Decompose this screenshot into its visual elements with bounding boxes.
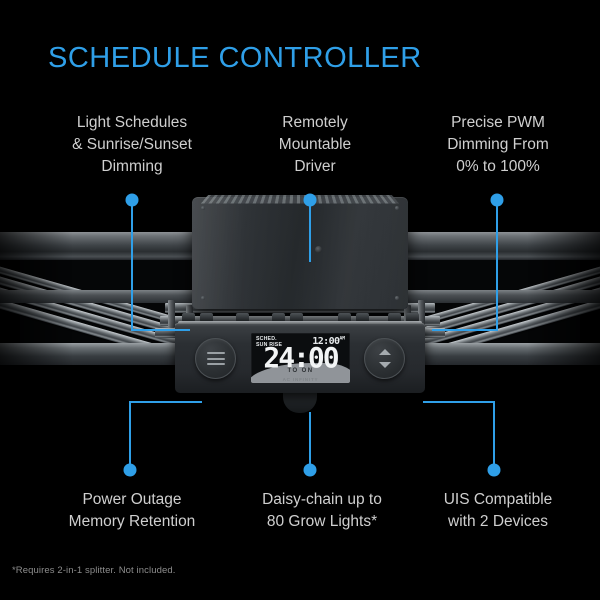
driver-sheen — [192, 197, 408, 309]
callout-light-schedules: Light Schedules & Sunrise/Sunset Dimming — [32, 112, 232, 178]
up-down-button[interactable] — [364, 338, 405, 379]
callout-memory-retention: Power Outage Memory Retention — [32, 489, 232, 533]
hamburger-icon-line-2 — [207, 358, 225, 360]
callout-remote-driver: Remotely Mountable Driver — [245, 112, 385, 178]
connector-dot-bottom-left — [124, 464, 137, 477]
lcd-brand-label: AC INFINITY — [251, 377, 350, 382]
driver-port — [315, 246, 322, 253]
menu-button[interactable] — [195, 338, 236, 379]
page-title: SCHEDULE CONTROLLER — [48, 42, 422, 75]
lcd-clock-meridiem: AM — [339, 337, 345, 342]
driver-screw-br — [395, 296, 399, 300]
lcd-display[interactable]: SCHED. SUN RISE 12:00AM 24:00 TO ON AC I… — [251, 333, 350, 383]
remote-driver-box — [192, 197, 408, 309]
hamburger-icon-line-1 — [207, 352, 225, 354]
arrow-up-icon — [379, 349, 391, 355]
connector-dot-bottom-middle — [304, 464, 317, 477]
callout-daisy-chain: Daisy-chain up to 80 Grow Lights* — [232, 489, 412, 533]
controller-cable-boot — [283, 391, 317, 413]
hamburger-icon-line-3 — [207, 363, 225, 365]
lcd-state-label: TO ON — [251, 368, 350, 374]
connector-dot-bottom-right — [488, 464, 501, 477]
driver-screw-tl — [201, 206, 205, 210]
infographic-canvas: SCHED. SUN RISE 12:00AM 24:00 TO ON AC I… — [0, 0, 600, 600]
schedule-controller-body: SCHED. SUN RISE 12:00AM 24:00 TO ON AC I… — [175, 323, 425, 393]
arrow-down-icon — [379, 362, 391, 368]
callout-pwm-dimming: Precise PWM Dimming From 0% to 100% — [408, 112, 588, 178]
driver-screw-bl — [201, 296, 205, 300]
callout-uis-compatible: UIS Compatible with 2 Devices — [408, 489, 588, 533]
product-photo: SCHED. SUN RISE 12:00AM 24:00 TO ON AC I… — [0, 195, 600, 460]
driver-screw-tr — [395, 206, 399, 210]
footnote: *Requires 2-in-1 splitter. Not included. — [12, 565, 175, 576]
mount-post-left — [168, 300, 175, 328]
